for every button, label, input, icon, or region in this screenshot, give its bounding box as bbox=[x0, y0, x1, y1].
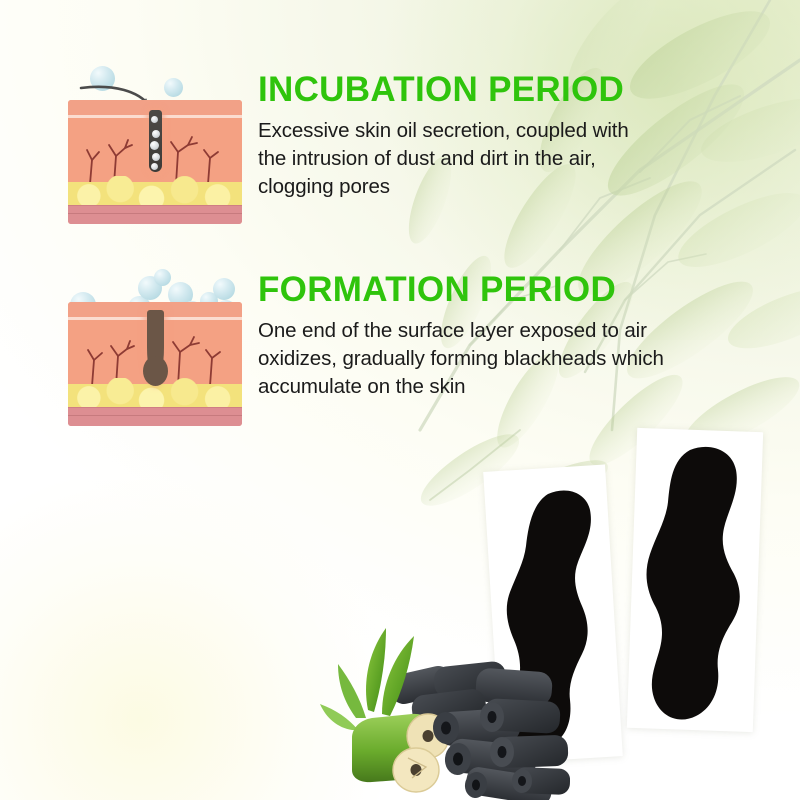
debris-particle bbox=[150, 141, 159, 150]
debris-particle bbox=[151, 116, 158, 123]
heading-formation-period: FORMATION PERIOD bbox=[258, 272, 688, 309]
section-incubation-text: INCUBATION PERIOD Excessive skin oil sec… bbox=[258, 72, 658, 202]
nose-strip-right bbox=[624, 438, 779, 743]
infographic-page: INCUBATION PERIOD Excessive skin oil sec… bbox=[0, 0, 800, 800]
clogged-pore bbox=[149, 110, 162, 172]
debris-particle bbox=[152, 130, 160, 138]
illustration-formation-blackhead bbox=[68, 268, 242, 426]
body-incubation-period: Excessive skin oil secretion, coupled wi… bbox=[258, 117, 658, 202]
section-formation-text: FORMATION PERIOD One end of the surface … bbox=[258, 272, 688, 402]
bamboo-leaves bbox=[320, 628, 414, 730]
skin-cross-section bbox=[68, 302, 242, 426]
debris-particle bbox=[151, 163, 158, 170]
muscle-layer bbox=[68, 205, 242, 224]
heading-incubation-period: INCUBATION PERIOD bbox=[258, 72, 658, 109]
bubble-icon bbox=[154, 269, 171, 286]
body-formation-period: One end of the surface layer exposed to … bbox=[258, 317, 688, 402]
bubble-icon bbox=[213, 278, 235, 300]
skin-cross-section bbox=[68, 100, 242, 224]
muscle-layer bbox=[68, 407, 242, 426]
debris-particle bbox=[152, 153, 160, 161]
blackhead-plug bbox=[147, 310, 164, 384]
illustration-incubation-clogged-pore bbox=[68, 60, 242, 224]
charcoal-sticks-front bbox=[432, 698, 570, 800]
bamboo-charcoal-group bbox=[316, 618, 570, 800]
